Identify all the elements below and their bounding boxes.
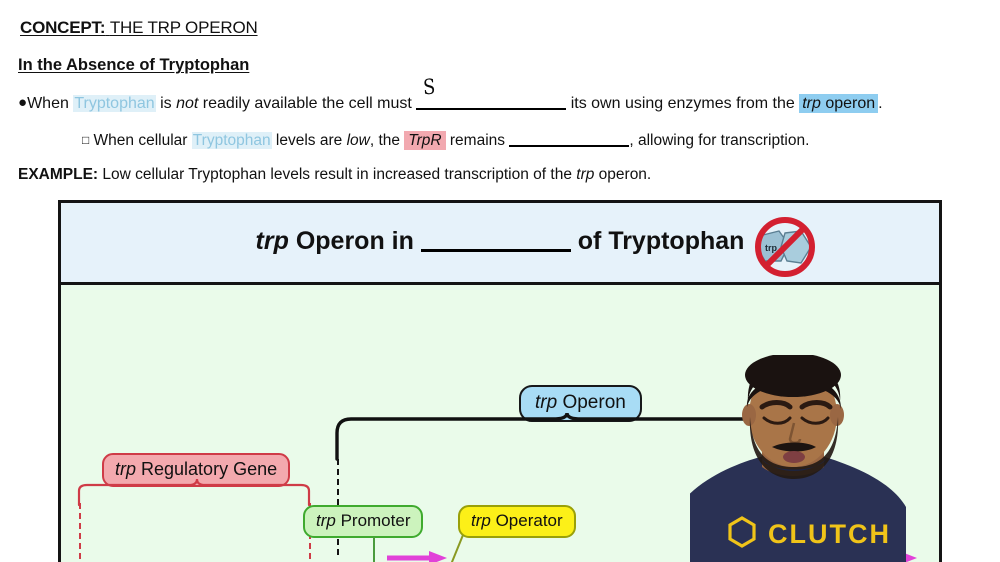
trpr-highlight: TrpR xyxy=(404,131,445,150)
concept-heading: CONCEPT: THE TRP OPERON xyxy=(20,18,258,38)
bullet1-period: . xyxy=(878,95,882,112)
bullet1-text-b: is xyxy=(156,95,176,112)
hair xyxy=(745,355,841,397)
promoter-stem xyxy=(373,537,375,562)
operon-label-italic: trp xyxy=(535,392,557,413)
handwritten-answer: S xyxy=(423,75,436,100)
diagram-title-blank[interactable] xyxy=(421,225,571,252)
diagram-title-end: of Tryptophan xyxy=(571,227,745,255)
regulatory-label-italic: trp xyxy=(115,459,136,479)
diagram-title-trp: trp xyxy=(256,227,289,255)
bullet2-text-b: levels are xyxy=(272,132,347,149)
tryptophan-highlight: Tryptophan xyxy=(73,95,155,112)
operator-leader-line xyxy=(441,533,521,562)
operon-word-1: operon xyxy=(821,95,875,112)
label-trp-promoter: trp Promoter xyxy=(303,505,423,538)
bullet1-text-c: readily available the cell must xyxy=(198,95,416,112)
operator-label-italic: trp xyxy=(471,511,491,530)
bullet1-text-a: When xyxy=(27,95,73,112)
transcription-arrow-left xyxy=(387,551,447,562)
regulatory-left-dash xyxy=(79,503,81,562)
bullet1-text-d: its own using enzymes from the xyxy=(566,95,799,112)
example-text-b: operon. xyxy=(594,166,651,183)
bullet-point-2: □ When cellular Tryptophan levels are lo… xyxy=(82,130,809,150)
instructor-video-overlay: CLUTCH xyxy=(690,355,942,562)
subheading: In the Absence of Tryptophan xyxy=(18,56,249,75)
regulatory-gene-bracket xyxy=(61,483,501,509)
bullet1-not-italic: not xyxy=(176,95,198,112)
promoter-label-rest: Promoter xyxy=(336,511,411,530)
concept-title: THE TRP OPERON xyxy=(110,18,258,37)
concept-label: CONCEPT: xyxy=(20,18,105,37)
fill-in-blank-1[interactable]: S xyxy=(416,91,566,110)
promoter-label-italic: trp xyxy=(316,511,336,530)
no-tryptophan-icon: trp xyxy=(749,217,821,279)
bullet2-low-italic: low xyxy=(347,132,370,149)
example-line: EXAMPLE: Low cellular Tryptophan levels … xyxy=(18,166,651,184)
trp-italic-1: trp xyxy=(802,95,821,112)
bullet-marker-dot: ● xyxy=(18,94,27,111)
svg-text:trp: trp xyxy=(765,243,777,253)
operator-label-rest: Operator xyxy=(491,511,563,530)
bullet2-text-a: When cellular xyxy=(89,132,192,149)
fill-in-blank-2[interactable] xyxy=(509,130,629,147)
bullet2-text-c: , the xyxy=(370,132,404,149)
diagram-title-mid: Operon in xyxy=(289,227,421,255)
example-label: EXAMPLE: xyxy=(18,166,98,183)
operon-label-rest: Operon xyxy=(557,392,626,413)
trp-operon-highlight: trp operon xyxy=(799,94,878,113)
example-text-a: Low cellular Tryptophan levels result in… xyxy=(98,166,576,183)
bullet2-text-e: , allowing for transcription. xyxy=(629,132,809,149)
trp-italic-example: trp xyxy=(576,166,594,183)
bullet2-text-d: remains xyxy=(446,132,510,149)
svg-text:CLUTCH: CLUTCH xyxy=(768,519,891,549)
regulatory-label-rest: Regulatory Gene xyxy=(136,459,277,479)
bullet-point-1: ●When Tryptophan is not readily availabl… xyxy=(18,91,883,113)
tryptophan-highlight-2: Tryptophan xyxy=(192,132,272,149)
diagram-header: trp Operon in of Tryptophan trp xyxy=(61,203,939,285)
